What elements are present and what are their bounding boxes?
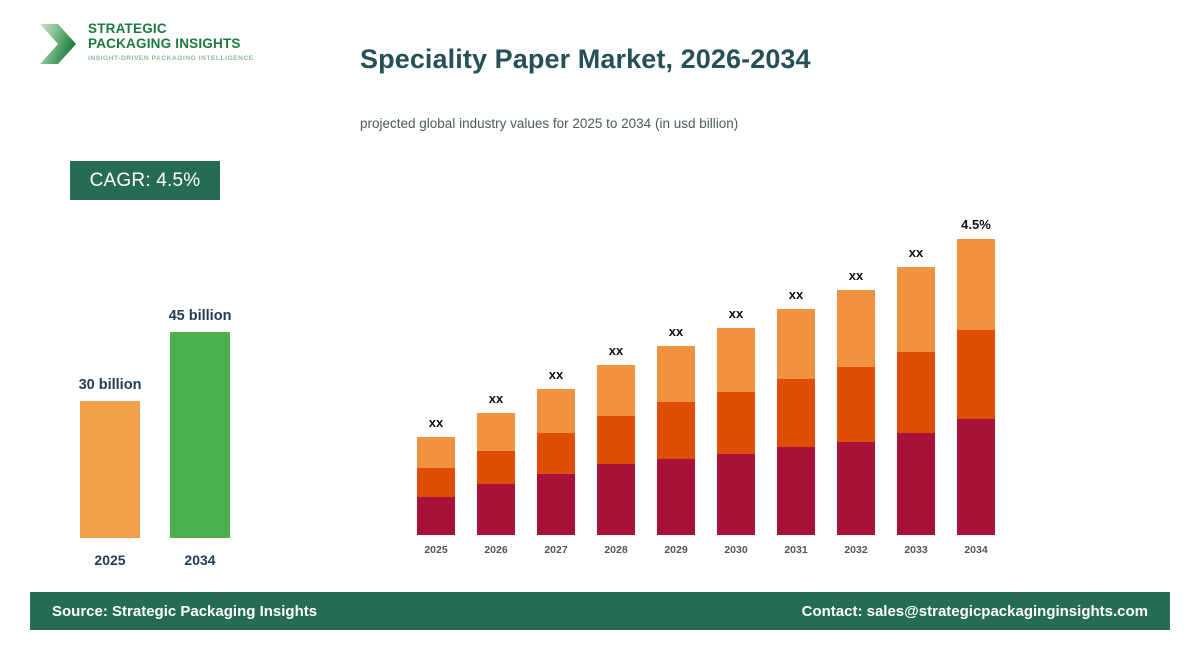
stacked-bar-segment-segment-middle [717,392,755,454]
chart-infographic-page: STRATEGIC PACKAGING INSIGHTS INSIGHT-DRI… [0,0,1200,650]
brand-tagline: INSIGHT-DRIVEN PACKAGING INTELLIGENCE [88,55,268,62]
stacked-bar-segment-segment-middle [657,402,695,459]
stacked-bar-column: xx2032 [837,200,875,560]
stacked-bar-segment-segment-middle [837,367,875,442]
stacked-bar-segment-segment-bottom [957,419,995,535]
stacked-bar [717,328,755,535]
stacked-bar-column: xx2025 [417,200,455,560]
stacked-bar [957,239,995,535]
stacked-bar-segment-segment-middle [597,416,635,464]
stacked-bar-segment-segment-middle [417,468,455,497]
stacked-bar-year-label: 2034 [938,544,1014,556]
stacked-bar-segment-segment-top [477,413,515,451]
summary-bar-year-label: 2025 [58,552,162,568]
stacked-bar [597,365,635,535]
stacked-bar-value-label: xx [398,415,474,430]
stacked-bar-segment-segment-top [897,267,935,352]
stacked-bar-segment-segment-top [417,437,455,468]
stacked-bar-segment-segment-bottom [657,459,695,535]
stacked-bar-segment-segment-bottom [837,442,875,535]
stacked-bar-segment-segment-bottom [537,474,575,535]
stacked-bar-segment-segment-top [597,365,635,416]
stacked-bar-segment-segment-middle [537,433,575,474]
stacked-bar-value-label: xx [518,367,594,382]
footer-bar: Source: Strategic Packaging Insights Con… [30,592,1170,630]
stacked-bar-segment-segment-top [537,389,575,433]
stacked-bar-segment-segment-bottom [777,447,815,535]
forecast-stacked-bar-chart: xx2025xx2026xx2027xx2028xx2029xx2030xx20… [405,200,1005,560]
stacked-bar-segment-segment-bottom [597,464,635,535]
stacked-bar [897,267,935,535]
brand-logo: STRATEGIC PACKAGING INSIGHTS INSIGHT-DRI… [30,16,270,78]
stacked-bar-column: 4.5%2034 [957,200,995,560]
stacked-bar-column: xx2031 [777,200,815,560]
stacked-bar-column: xx2030 [717,200,755,560]
summary-bar-column: 30 billion2025 [80,300,140,570]
stacked-bar-value-label: xx [458,391,534,406]
summary-bar-column: 45 billion2034 [170,300,230,570]
summary-bar [170,332,230,538]
stacked-bar-segment-segment-top [717,328,755,392]
page-subtitle: projected global industry values for 202… [360,116,738,131]
stacked-bar-column: xx2027 [537,200,575,560]
stacked-bar-segment-segment-bottom [897,433,935,535]
summary-bar-chart: 30 billion202545 billion2034 [60,300,260,570]
stacked-bar-value-label: xx [698,306,774,321]
stacked-bar-segment-segment-top [777,309,815,379]
stacked-bar [837,290,875,535]
brand-name-line1: STRATEGIC [88,21,268,36]
stacked-bar-segment-segment-bottom [477,484,515,535]
stacked-bar-value-label: xx [758,287,834,302]
stacked-bar-segment-segment-bottom [717,454,755,535]
stacked-bar-segment-segment-middle [957,330,995,419]
stacked-bar [477,413,515,535]
stacked-bar-segment-segment-bottom [417,497,455,535]
stacked-bar [417,437,455,535]
stacked-bar-value-label: xx [578,343,654,358]
cagr-badge: CAGR: 4.5% [70,161,220,200]
stacked-bar-column: xx2028 [597,200,635,560]
stacked-bar-segment-segment-middle [777,379,815,447]
stacked-bar-value-label: 4.5% [938,217,1014,232]
summary-bar [80,401,140,538]
stacked-bar-segment-segment-middle [897,352,935,433]
stacked-bar [777,309,815,535]
stacked-bar-column: xx2033 [897,200,935,560]
summary-bar-value-label: 45 billion [148,308,252,324]
chevron-logo-icon [34,20,82,68]
footer-contact-text: Contact: sales@strategicpackaginginsight… [802,592,1148,630]
stacked-bar-segment-segment-middle [477,451,515,484]
stacked-bar-column: xx2029 [657,200,695,560]
summary-bar-year-label: 2034 [148,552,252,568]
footer-source-text: Source: Strategic Packaging Insights [52,592,317,630]
stacked-bar-segment-segment-top [657,346,695,402]
summary-bar-value-label: 30 billion [58,377,162,393]
stacked-bar [657,346,695,535]
stacked-bar-value-label: xx [878,245,954,260]
stacked-bar-segment-segment-top [837,290,875,367]
stacked-bar [537,389,575,535]
brand-name-line2: PACKAGING INSIGHTS [88,36,268,51]
stacked-bar-value-label: xx [818,268,894,283]
stacked-bar-column: xx2026 [477,200,515,560]
stacked-bar-value-label: xx [638,324,714,339]
page-title: Speciality Paper Market, 2026-2034 [360,44,811,75]
stacked-bar-segment-segment-top [957,239,995,330]
